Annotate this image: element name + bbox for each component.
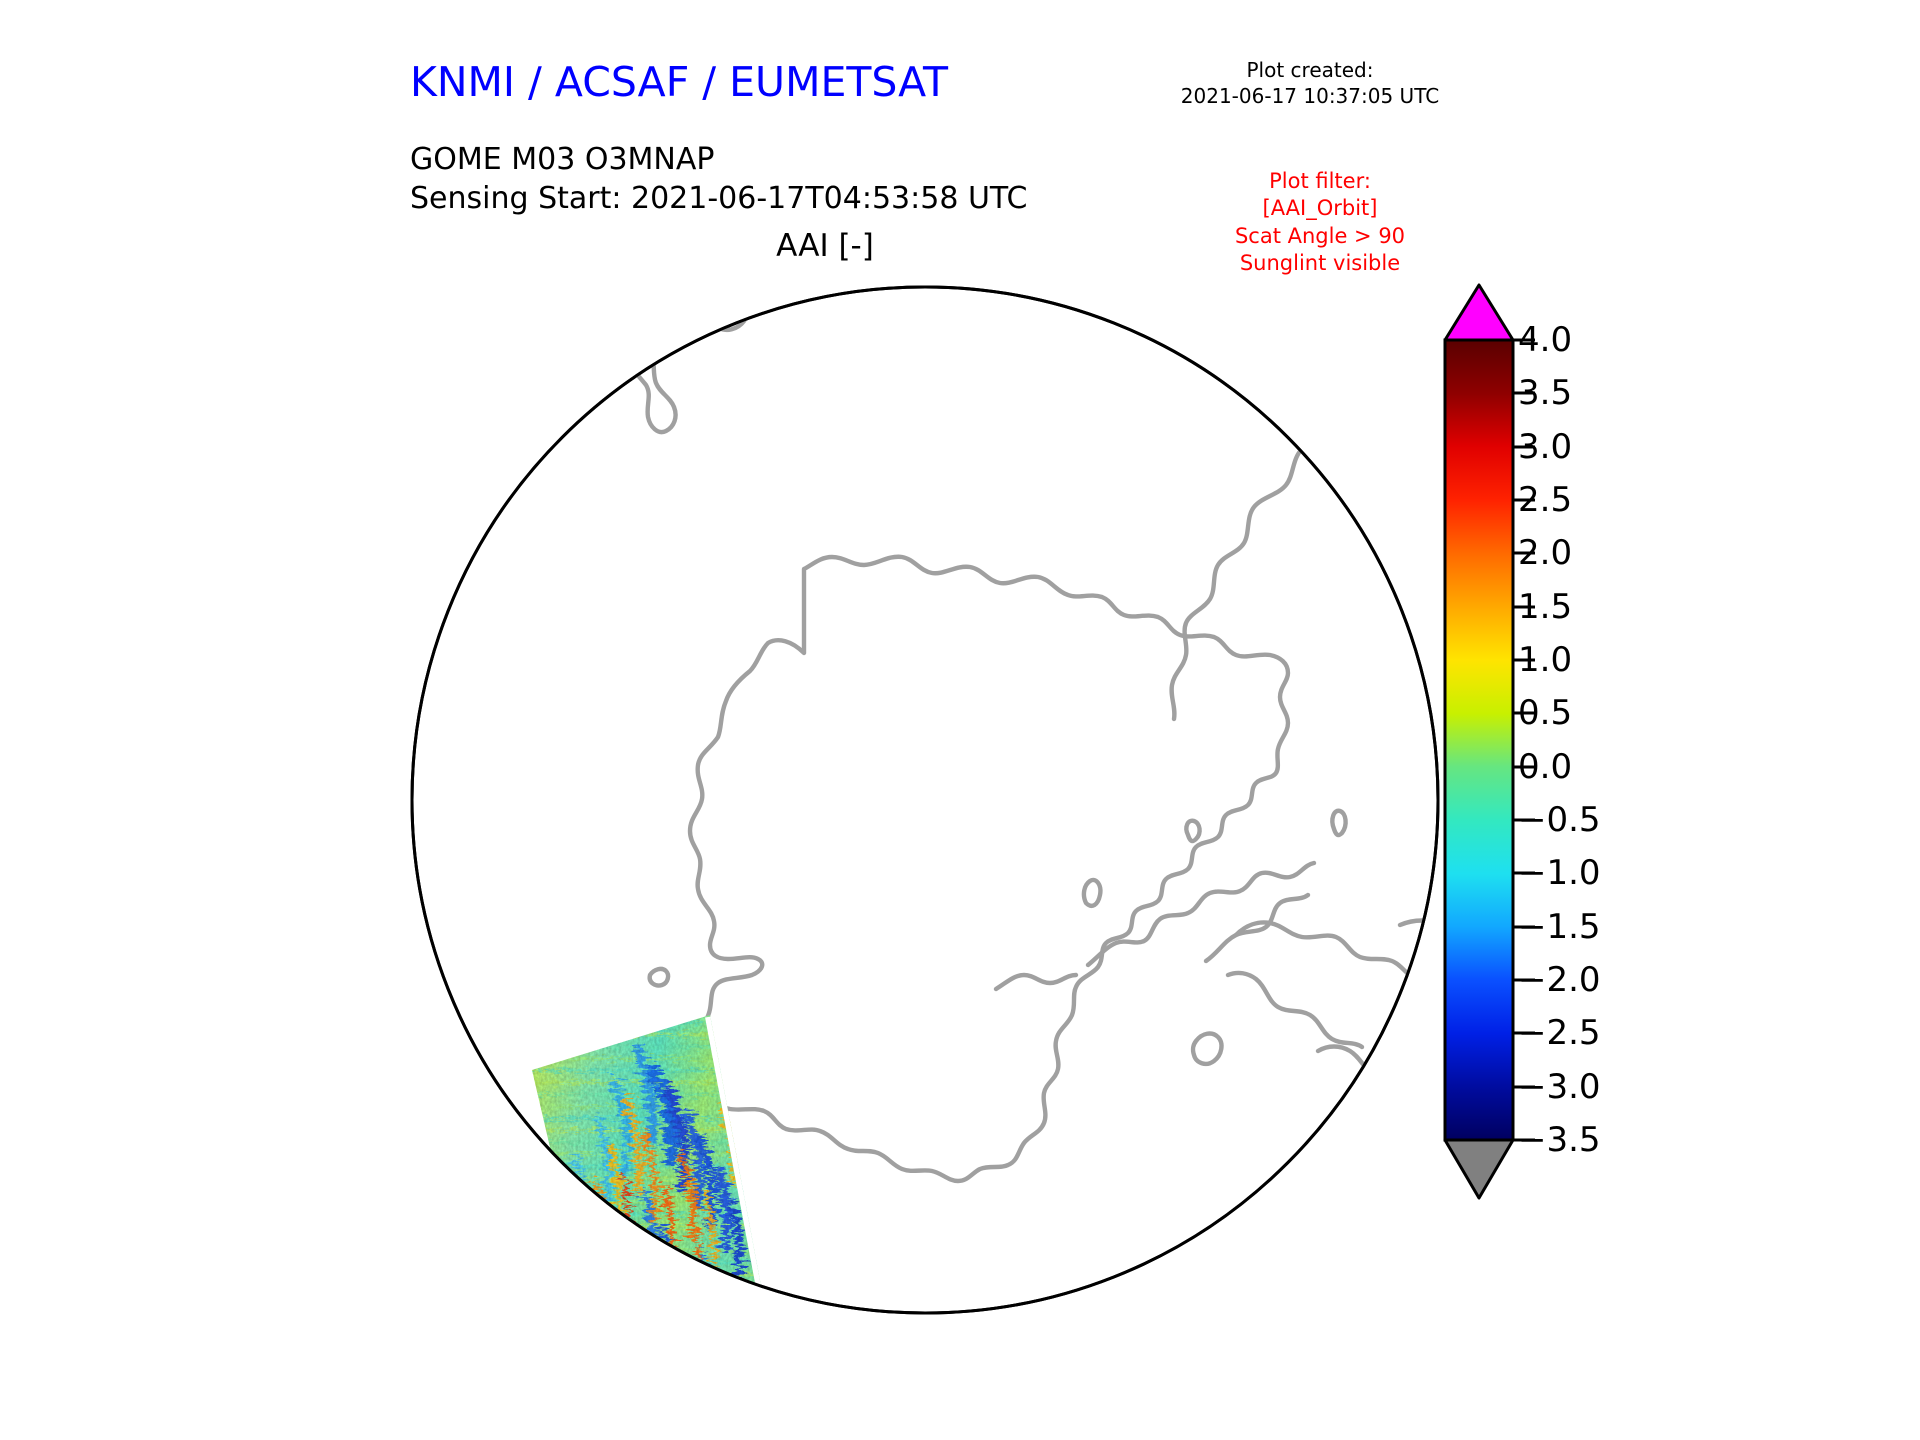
plot-created-label: Plot created: bbox=[1160, 58, 1460, 84]
sensing-start-line: Sensing Start: 2021-06-17T04:53:58 UTC bbox=[410, 179, 1027, 218]
plot-created-timestamp: 2021-06-17 10:37:05 UTC bbox=[1160, 84, 1460, 110]
colorbar-tick-label-8: 0.0 bbox=[1518, 747, 1572, 787]
plot-filter-line-2: Sunglint visible bbox=[1175, 250, 1465, 277]
plot-filter-title: Plot filter: bbox=[1175, 168, 1465, 195]
instrument-product-line: GOME M03 O3MNAP bbox=[410, 140, 1027, 179]
colorbar-tick-label-11: −1.5 bbox=[1518, 907, 1601, 947]
map-svg bbox=[400, 275, 1450, 1325]
colorbar-tick-label-9: −0.5 bbox=[1518, 800, 1601, 840]
colorbar-over-arrow bbox=[1445, 285, 1513, 340]
colorbar-svg bbox=[1440, 280, 1860, 1320]
colorbar-tick-label-6: 1.0 bbox=[1518, 640, 1572, 680]
colorbar-tick-label-4: 2.0 bbox=[1518, 533, 1572, 573]
plot-filter-block: Plot filter: [AAI_Orbit] Scat Angle > 90… bbox=[1175, 168, 1465, 277]
coastline-subantarctic-island-3 bbox=[409, 356, 452, 385]
colorbar-tick-label-2: 3.0 bbox=[1518, 427, 1572, 467]
colorbar-gradient-body bbox=[1445, 340, 1513, 1140]
colorbar-tick-label-5: 1.5 bbox=[1518, 587, 1572, 627]
plot-created-block: Plot created: 2021-06-17 10:37:05 UTC bbox=[1160, 58, 1460, 109]
page-title: AAI [-] bbox=[410, 228, 1240, 264]
colorbar-under-arrow bbox=[1445, 1140, 1513, 1198]
organisation-title: KNMI / ACSAF / EUMETSAT bbox=[410, 58, 948, 106]
colorbar-tick-label-15: −3.5 bbox=[1518, 1120, 1601, 1160]
colorbar-tick-label-12: −2.0 bbox=[1518, 960, 1601, 1000]
colorbar-tick-label-7: 0.5 bbox=[1518, 693, 1572, 733]
dataset-meta-block: GOME M03 O3MNAP Sensing Start: 2021-06-1… bbox=[410, 140, 1027, 218]
figure-canvas: KNMI / ACSAF / EUMETSAT Plot created: 20… bbox=[0, 0, 1920, 1440]
colorbar-tick-label-10: −1.0 bbox=[1518, 853, 1601, 893]
colorbar-tick-label-3: 2.5 bbox=[1518, 480, 1572, 520]
colorbar-tick-label-1: 3.5 bbox=[1518, 373, 1572, 413]
colorbar-tick-label-14: −3.0 bbox=[1518, 1067, 1601, 1107]
plot-filter-line-0: [AAI_Orbit] bbox=[1175, 195, 1465, 222]
plot-filter-line-1: Scat Angle > 90 bbox=[1175, 223, 1465, 250]
colorbar-tick-label-13: −2.5 bbox=[1518, 1013, 1601, 1053]
coastline-subantarctic-island-1 bbox=[500, 390, 548, 433]
map-plot-area bbox=[400, 275, 1450, 1325]
colorbar-tick-label-0: 4.0 bbox=[1518, 320, 1572, 360]
colorbar: 4.0 3.5 3.0 2.5 2.0 1.5 1.0 0.5 0.0 −0.5… bbox=[1440, 280, 1860, 1320]
